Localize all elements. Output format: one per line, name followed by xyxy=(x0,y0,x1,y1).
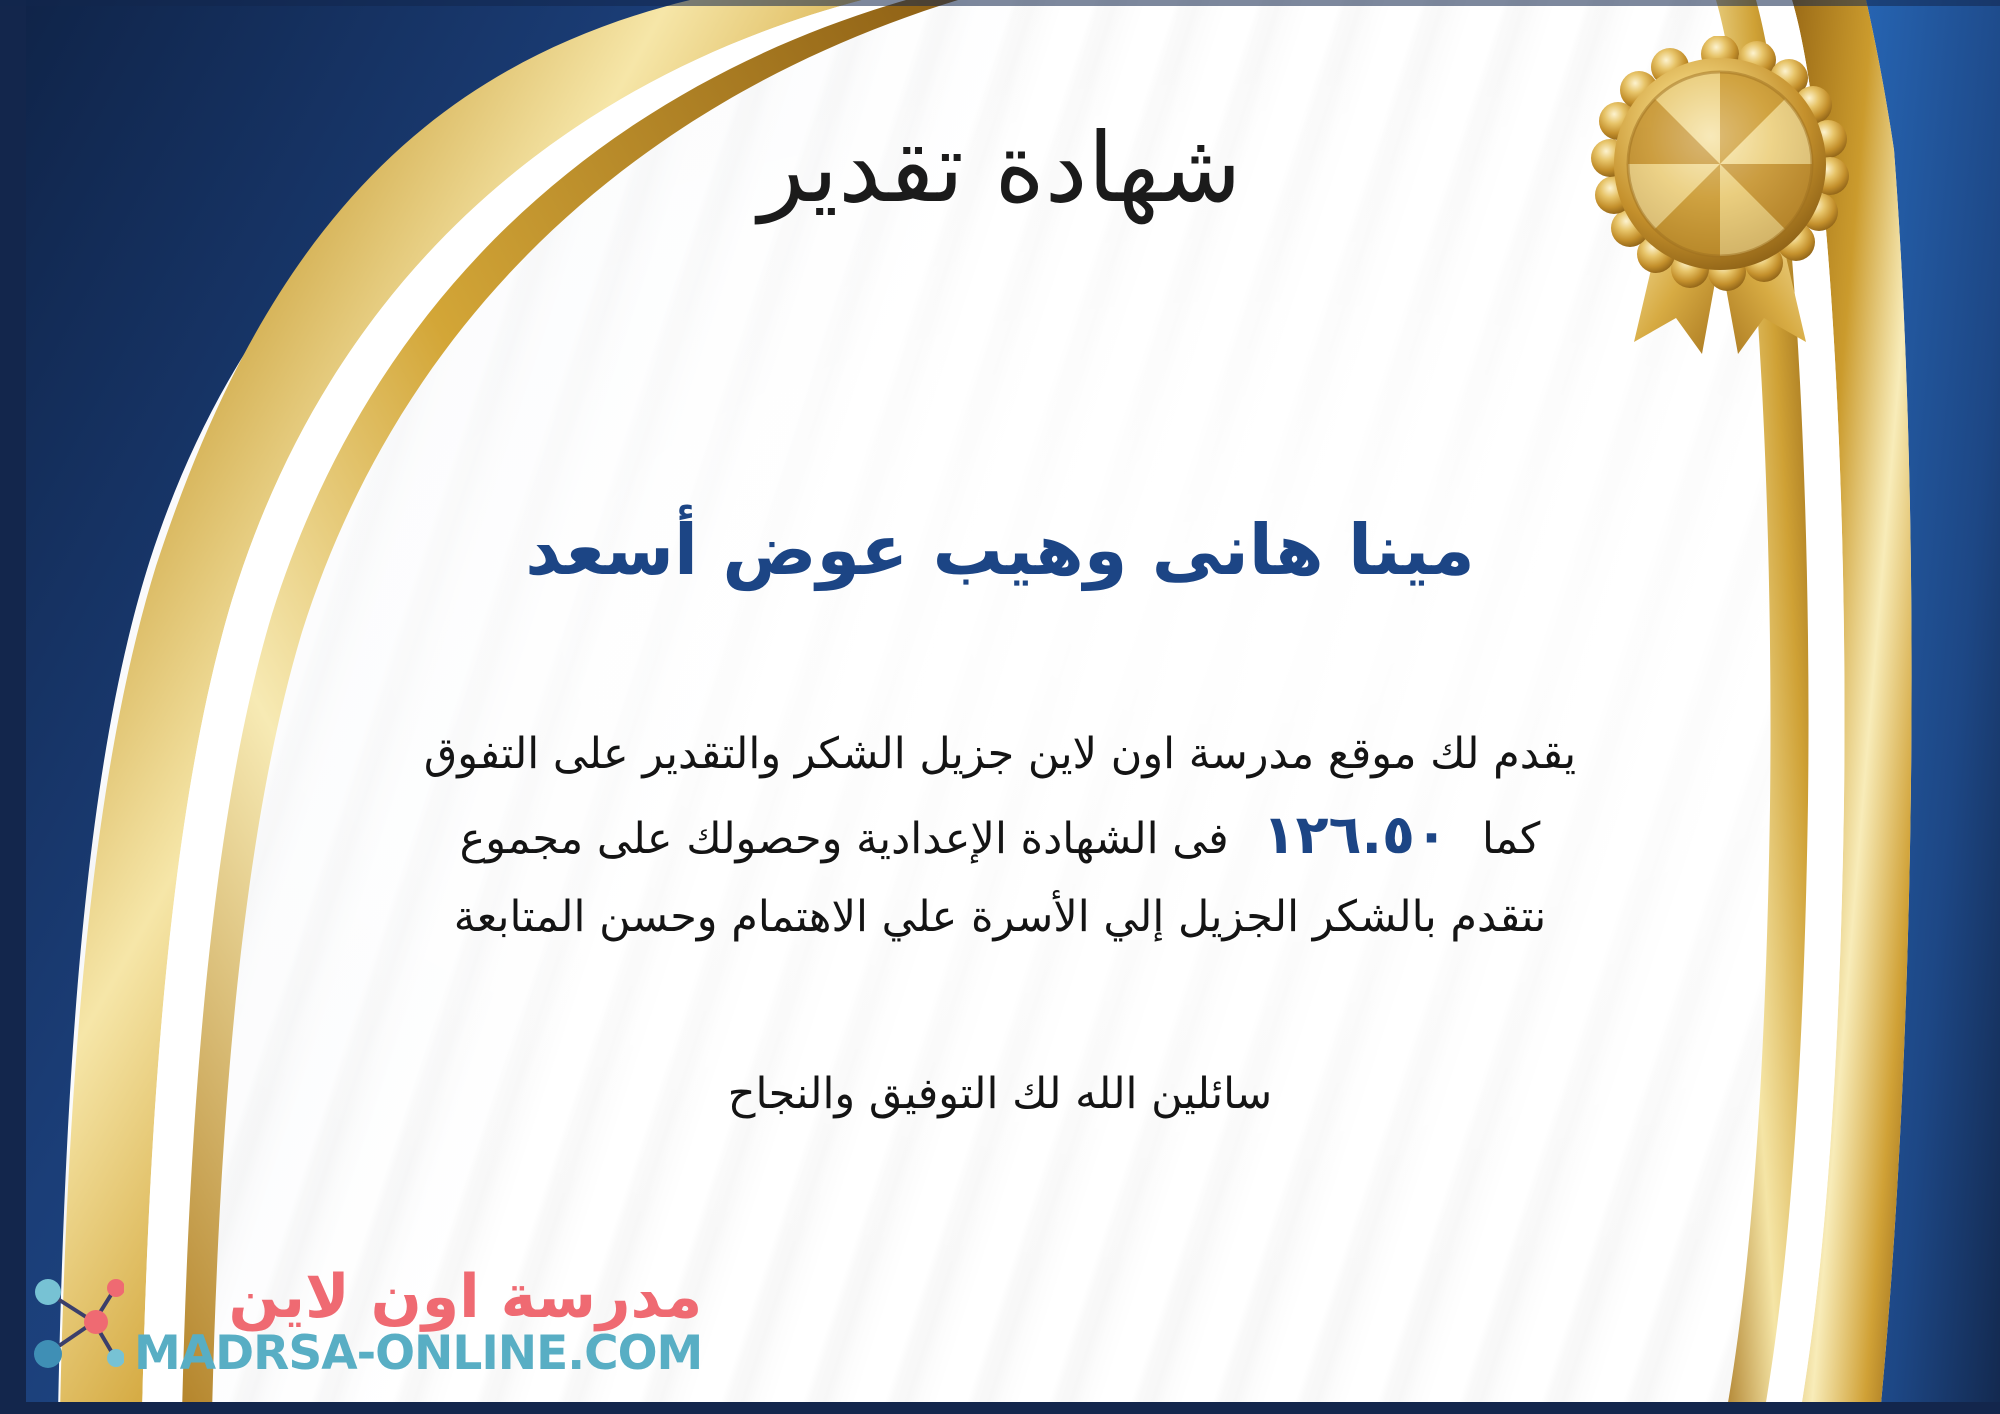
body-line-3: نتقدم بالشكر الجزيل إلي الأسرة علي الاهت… xyxy=(60,881,1940,953)
page-title: شهادة تقدير xyxy=(0,118,2000,219)
brand-website-url: MADRSA-ONLINE.COM xyxy=(134,1329,702,1378)
certificate-content: شهادة تقدير مينا هانى وهيب عوض أسعد يقدم… xyxy=(0,0,2000,1414)
score-prefix-text: فى الشهادة الإعدادية وحصولك على مجموع xyxy=(460,803,1229,875)
network-nodes-icon xyxy=(28,1268,124,1376)
total-score-value: ١٢٦.٥٠ xyxy=(1229,790,1482,881)
brand-name-arabic: مدرسة اون لاين xyxy=(134,1266,702,1329)
brand-text: مدرسة اون لاين MADRSA-ONLINE.COM xyxy=(134,1266,702,1378)
certificate-canvas: شهادة تقدير مينا هانى وهيب عوض أسعد يقدم… xyxy=(0,0,2000,1414)
recipient-name: مينا هانى وهيب عوض أسعد xyxy=(0,510,2000,591)
body-line-1: يقدم لك موقع مدرسة اون لاين جزيل الشكر و… xyxy=(60,718,1940,790)
closing-line: سائلين الله لك التوفيق والنجاح xyxy=(0,1060,2000,1129)
score-suffix-text: كما xyxy=(1482,803,1540,875)
body-line-score: كما ١٢٦.٥٠ فى الشهادة الإعدادية وحصولك ع… xyxy=(60,790,1940,881)
certificate-body: يقدم لك موقع مدرسة اون لاين جزيل الشكر و… xyxy=(60,718,1940,953)
brand-logo[interactable]: مدرسة اون لاين MADRSA-ONLINE.COM xyxy=(28,1266,702,1378)
